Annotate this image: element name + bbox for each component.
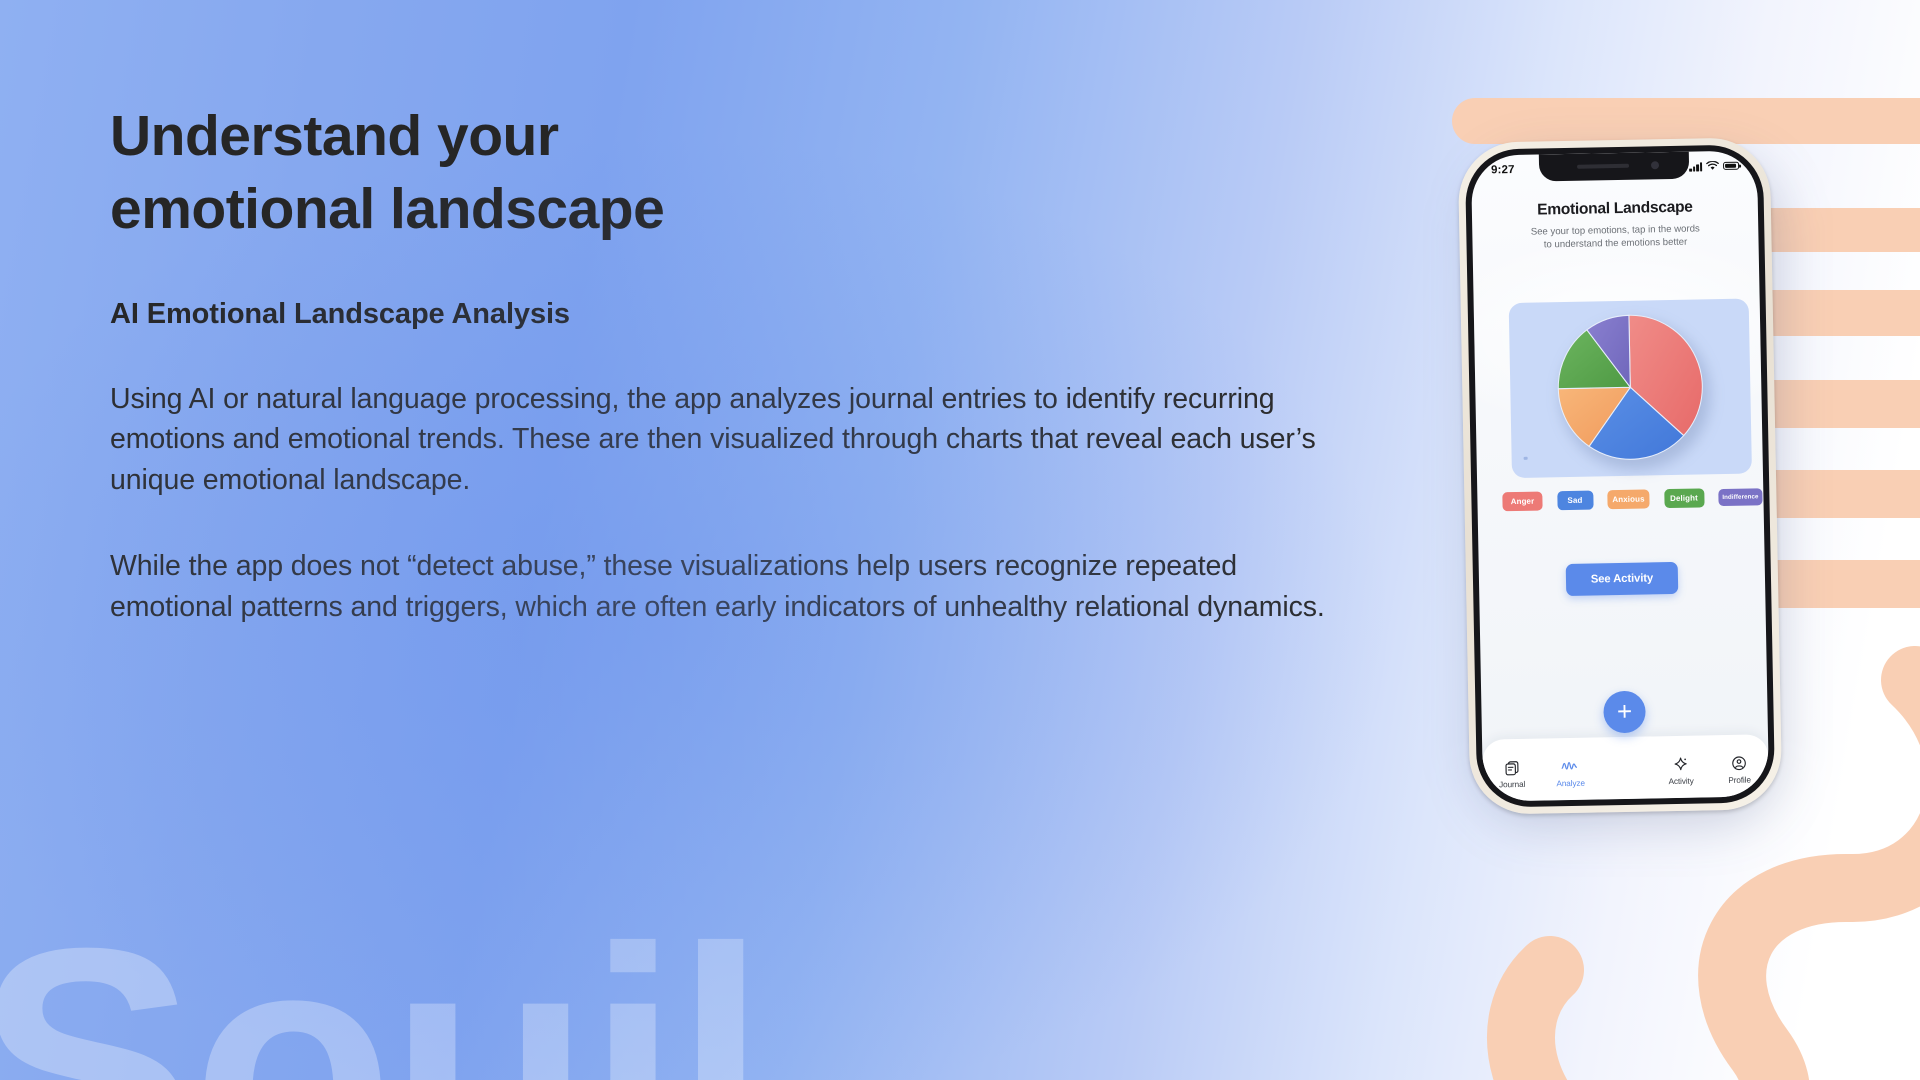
screen-subtitle: See your top emotions, tap in the words … [1528,222,1703,252]
section-subheading: AI Emotional Landscape Analysis [110,298,1340,331]
battery-icon [1723,161,1739,170]
phone-notch [1539,152,1689,182]
person-icon [1731,755,1748,772]
status-clock: 9:27 [1491,164,1515,176]
phone-bezel: 9:27 Emotional Landscape [1465,144,1776,808]
phone-screen: 9:27 Emotional Landscape [1471,150,1769,801]
front-camera-icon [1651,161,1659,169]
legend-chip-indifference[interactable]: Indifference [1718,488,1762,506]
tab-activity[interactable]: Activity [1651,747,1710,786]
journal-icon [1503,759,1520,776]
brand-watermark: Souil [0,915,763,1080]
emotion-legend: AngerSadAnxiousDelightIndifference [1502,487,1762,511]
earpiece-speaker [1577,164,1629,169]
pie-chart-svg[interactable] [1554,310,1707,463]
waveform-icon [1561,758,1580,775]
pie-chart[interactable] [1554,310,1707,463]
legend-chip-delight[interactable]: Delight [1664,488,1704,508]
status-icons [1689,161,1739,172]
slide-background: Souil Understand your emotional landscap… [0,0,1920,1080]
screen-title: Emotional Landscape [1472,197,1758,220]
add-entry-fab[interactable]: + [1603,691,1646,734]
cellular-signal-icon [1689,162,1702,171]
sparkle-icon [1672,756,1689,773]
hero-copy: Understand your emotional landscape AI E… [110,100,1340,627]
emotion-pie-chart-card[interactable] [1509,298,1752,478]
tab-profile[interactable]: Profile [1710,746,1769,785]
body-paragraph-1: Using AI or natural language processing,… [110,379,1325,500]
tab-label: Analyze [1556,779,1585,789]
bottom-tab-bar: Journal Analyze [1482,734,1769,801]
tab-label: Profile [1728,776,1751,785]
phone-mockup: 9:27 Emotional Landscape [1464,140,1794,840]
chart-corner-marker [1524,457,1528,460]
wifi-icon [1706,161,1719,171]
peach-bar-1 [1452,98,1920,144]
page-title: Understand your emotional landscape [110,100,1340,246]
phone-frame: 9:27 Emotional Landscape [1458,137,1783,815]
legend-chip-anger[interactable]: Anger [1502,491,1542,511]
app-content: Emotional Landscape See your top emotion… [1471,150,1769,801]
legend-chip-sad[interactable]: Sad [1557,491,1593,511]
legend-chip-anxious[interactable]: Anxious [1607,489,1649,509]
tab-label: Journal [1499,780,1525,790]
tab-journal[interactable]: Journal [1482,751,1541,790]
tab-analyze[interactable]: Analyze [1541,749,1600,788]
tab-label: Activity [1668,777,1693,786]
tab-bar-spacer [1600,767,1652,768]
see-activity-button[interactable]: See Activity [1566,562,1679,596]
body-paragraph-2: While the app does not “detect abuse,” t… [110,546,1325,627]
